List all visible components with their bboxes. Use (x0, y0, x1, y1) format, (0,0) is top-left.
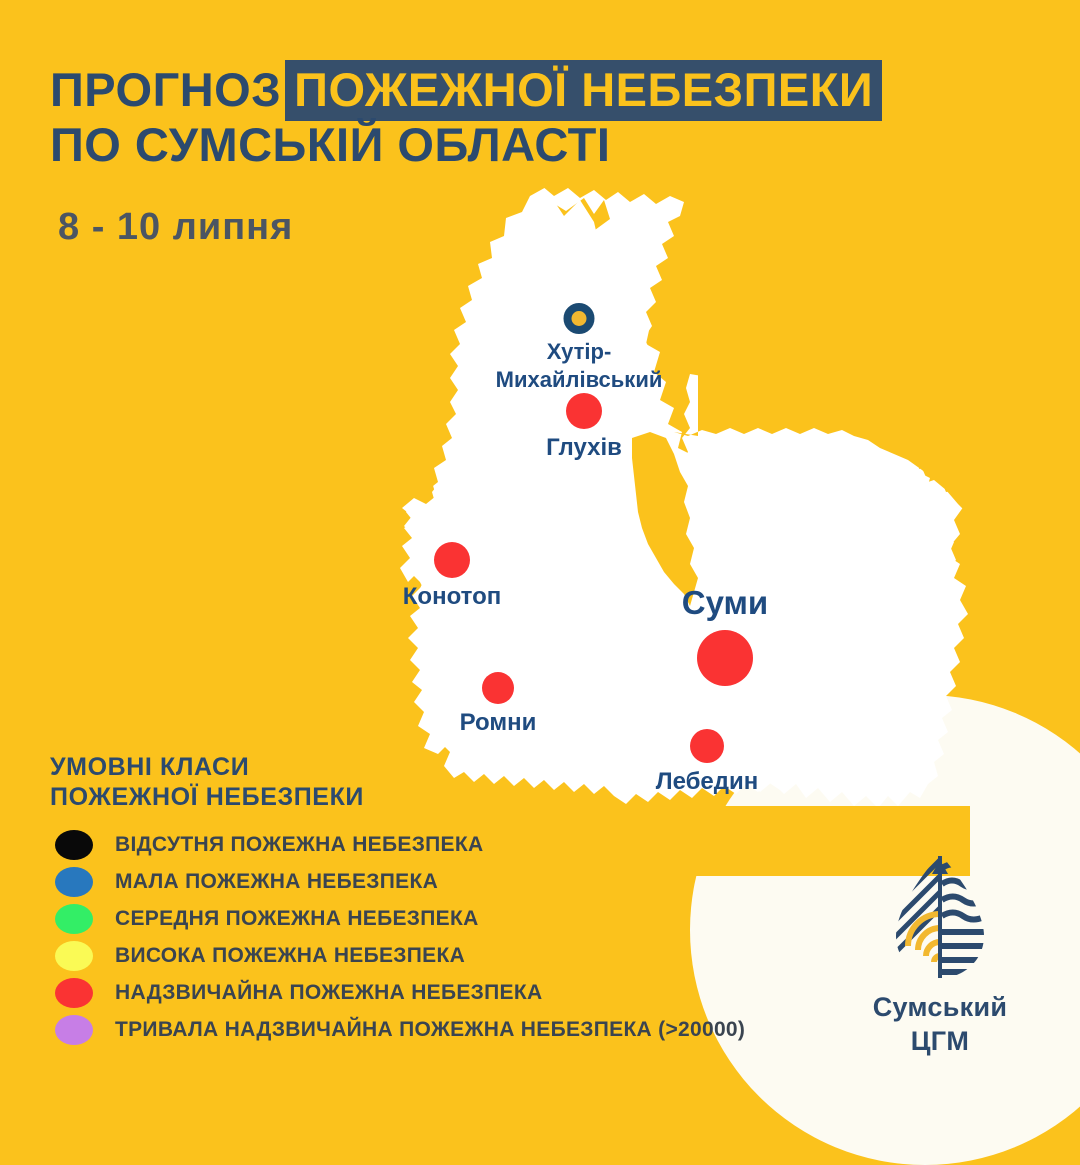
city-label: Хутір-Михайлівський (496, 338, 663, 394)
legend-item: ВИСОКА ПОЖЕЖНА НЕБЕЗПЕКА (50, 937, 745, 974)
legend-item-label: МАЛА ПОЖЕЖНА НЕБЕЗПЕКА (115, 870, 438, 894)
city-label: Ромни (460, 708, 537, 738)
droplet-leaf-waves-icon (888, 852, 992, 982)
city-dot-marker-icon (566, 393, 602, 429)
legend-color-swatch (55, 941, 93, 971)
city-label-line: Глухів (546, 433, 622, 463)
city-label: Суми (682, 583, 768, 622)
city-dot-marker-icon (434, 542, 470, 578)
title-word-prognoz: ПРОГНОЗ (50, 63, 281, 116)
legend-item-list: ВІДСУТНЯ ПОЖЕЖНА НЕБЕЗПЕКАМАЛА ПОЖЕЖНА Н… (50, 826, 745, 1048)
logo-text-line-2: ЦГМ (840, 1024, 1040, 1058)
legend-item-label: ВИСОКА ПОЖЕЖНА НЕБЕЗПЕКА (115, 944, 465, 968)
legend-title: УМОВНІ КЛАСИ ПОЖЕЖНОЇ НЕБЕЗПЕКИ (50, 752, 745, 812)
legend-title-line-1: УМОВНІ КЛАСИ (50, 752, 745, 782)
city-label-line: Хутір- (496, 338, 663, 366)
city-label: Глухів (546, 433, 622, 463)
city-ring-marker-icon (564, 303, 595, 334)
legend-title-line-2: ПОЖЕЖНОЇ НЕБЕЗПЕКИ (50, 782, 745, 812)
legend-color-swatch (55, 904, 93, 934)
city-label-line: Михайлівський (496, 366, 663, 394)
legend-item-label: НАДЗВИЧАЙНА ПОЖЕЖНА НЕБЕЗПЕКА (115, 981, 542, 1005)
legend-item: СЕРЕДНЯ ПОЖЕЖНА НЕБЕЗПЕКА (50, 900, 745, 937)
legend-color-swatch (55, 830, 93, 860)
city-label-line: Конотоп (403, 582, 501, 612)
legend-color-swatch (55, 978, 93, 1008)
legend-item: МАЛА ПОЖЕЖНА НЕБЕЗПЕКА (50, 863, 745, 900)
title-line-2: ПО СУМСЬКІЙ ОБЛАСТІ (50, 117, 882, 172)
legend-item: ВІДСУТНЯ ПОЖЕЖНА НЕБЕЗПЕКА (50, 826, 745, 863)
city-label-line: Ромни (460, 708, 537, 738)
legend-item-label: ТРИВАЛА НАДЗВИЧАЙНА ПОЖЕЖНА НЕБЕЗПЕКА (>… (115, 1018, 745, 1042)
legend: УМОВНІ КЛАСИ ПОЖЕЖНОЇ НЕБЕЗПЕКИ ВІДСУТНЯ… (50, 752, 745, 1048)
date-range: 8 - 10 липня (58, 206, 293, 249)
logo-text: Сумський ЦГМ (840, 990, 1040, 1058)
legend-item: ТРИВАЛА НАДЗВИЧАЙНА ПОЖЕЖНА НЕБЕЗПЕКА (>… (50, 1011, 745, 1048)
legend-item-label: СЕРЕДНЯ ПОЖЕЖНА НЕБЕЗПЕКА (115, 907, 479, 931)
legend-color-swatch (55, 1015, 93, 1045)
page-title: ПРОГНОЗПОЖЕЖНОЇ НЕБЕЗПЕКИ ПО СУМСЬКІЙ ОБ… (50, 62, 882, 172)
legend-item-label: ВІДСУТНЯ ПОЖЕЖНА НЕБЕЗПЕКА (115, 833, 483, 857)
city-dot-marker-icon (482, 672, 514, 704)
legend-item: НАДЗВИЧАЙНА ПОЖЕЖНА НЕБЕЗПЕКА (50, 974, 745, 1011)
logo-text-line-1: Сумський (840, 990, 1040, 1024)
city-dot-marker-icon (697, 630, 753, 686)
title-line-1: ПРОГНОЗПОЖЕЖНОЇ НЕБЕЗПЕКИ (50, 62, 882, 117)
organization-logo: Сумський ЦГМ (840, 852, 1040, 1058)
title-highlight-box: ПОЖЕЖНОЇ НЕБЕЗПЕКИ (285, 60, 882, 121)
poster-canvas: ПРОГНОЗПОЖЕЖНОЇ НЕБЕЗПЕКИ ПО СУМСЬКІЙ ОБ… (0, 0, 1080, 1080)
city-label: Конотоп (403, 582, 501, 612)
city-label-line: Суми (682, 583, 768, 622)
legend-color-swatch (55, 867, 93, 897)
